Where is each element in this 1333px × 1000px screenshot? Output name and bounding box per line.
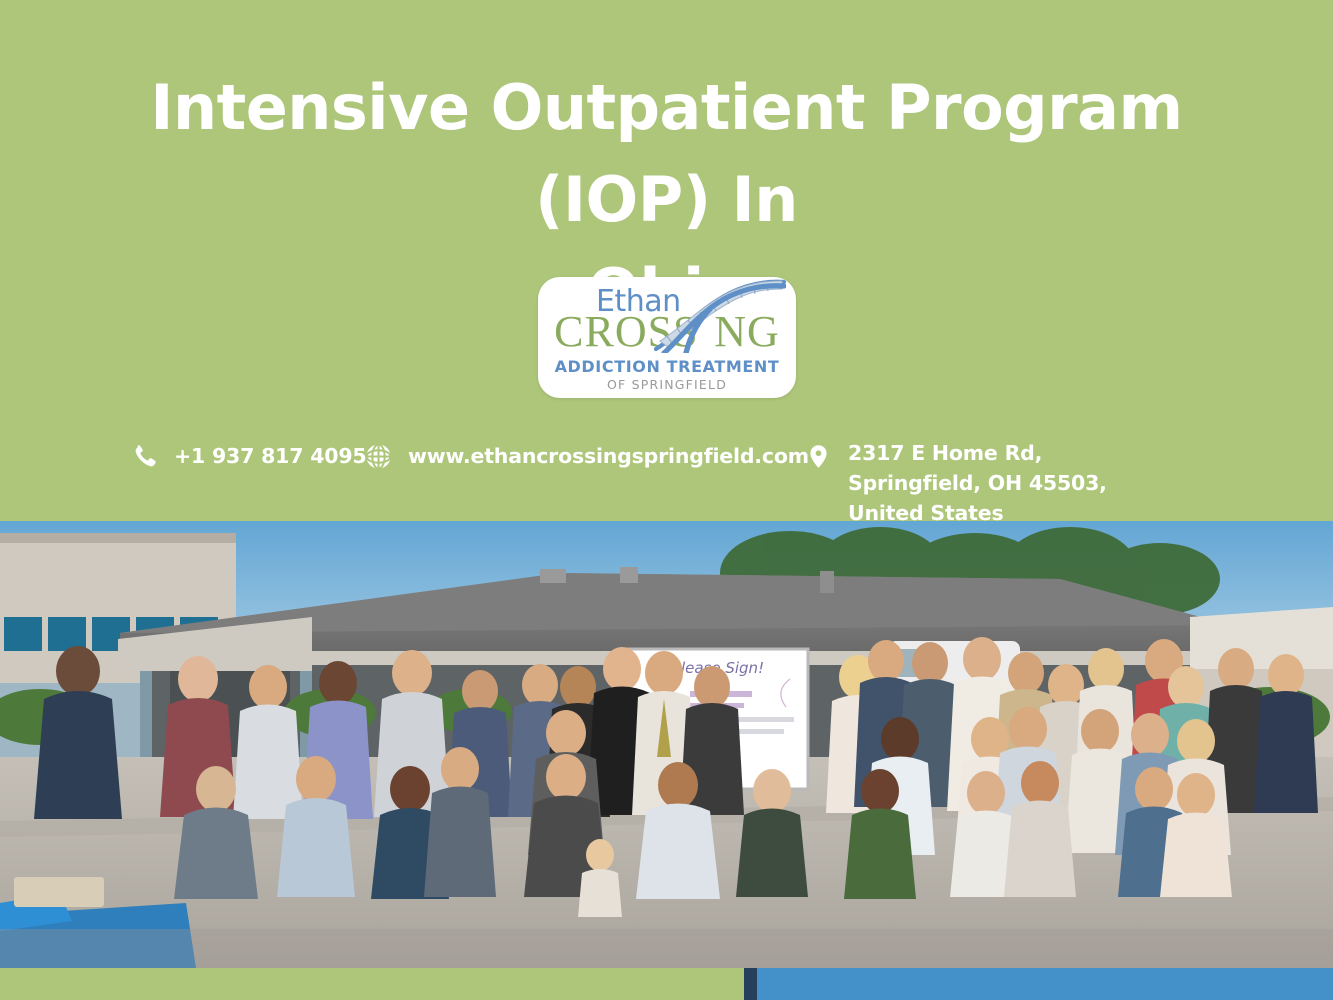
logo-brand-main-part1: CROSS <box>554 307 698 356</box>
brand-logo-inner: Ethan CROSSING <box>538 277 796 398</box>
contact-row: +1 937 817 4095 www.ethancrossingsprin <box>0 430 1333 496</box>
contact-website[interactable]: www.ethancrossingspringfield.com <box>362 440 809 472</box>
map-pin-icon <box>802 440 834 472</box>
logo-brand-main-i-slot: I <box>699 307 715 356</box>
poster-root: Intensive Outpatient Program (IOP) In Oh… <box>0 0 1333 1000</box>
globe-icon <box>362 440 394 472</box>
contact-address-value: 2317 E Home Rd, Springfield, OH 45503, U… <box>848 430 1178 528</box>
header-band: Intensive Outpatient Program (IOP) In Oh… <box>0 0 1333 522</box>
bottom-bar-green <box>0 968 744 1000</box>
contact-phone-value: +1 937 817 4095 <box>174 441 367 471</box>
bottom-bar-blue <box>757 968 1333 1000</box>
group-photo: Please Sign! <box>0 521 1333 968</box>
group-photo-illustration: Please Sign! <box>0 521 1333 968</box>
contact-address[interactable]: 2317 E Home Rd, Springfield, OH 45503, U… <box>802 430 1178 528</box>
brand-logo-card[interactable]: Ethan CROSSING <box>538 277 796 398</box>
logo-brand-main-part2: NG <box>714 307 780 356</box>
logo-location-line: OF SPRINGFIELD <box>549 377 785 392</box>
bottom-bar-divider <box>744 968 757 1000</box>
contact-website-value: www.ethancrossingspringfield.com <box>408 441 809 471</box>
logo-tagline: ADDICTION TREATMENT <box>549 357 785 376</box>
phone-icon <box>128 440 160 472</box>
page-title-line-1: Intensive Outpatient Program (IOP) In <box>150 71 1182 236</box>
contact-phone[interactable]: +1 937 817 4095 <box>128 440 367 472</box>
logo-brand-main-text: CROSSING <box>549 309 785 355</box>
